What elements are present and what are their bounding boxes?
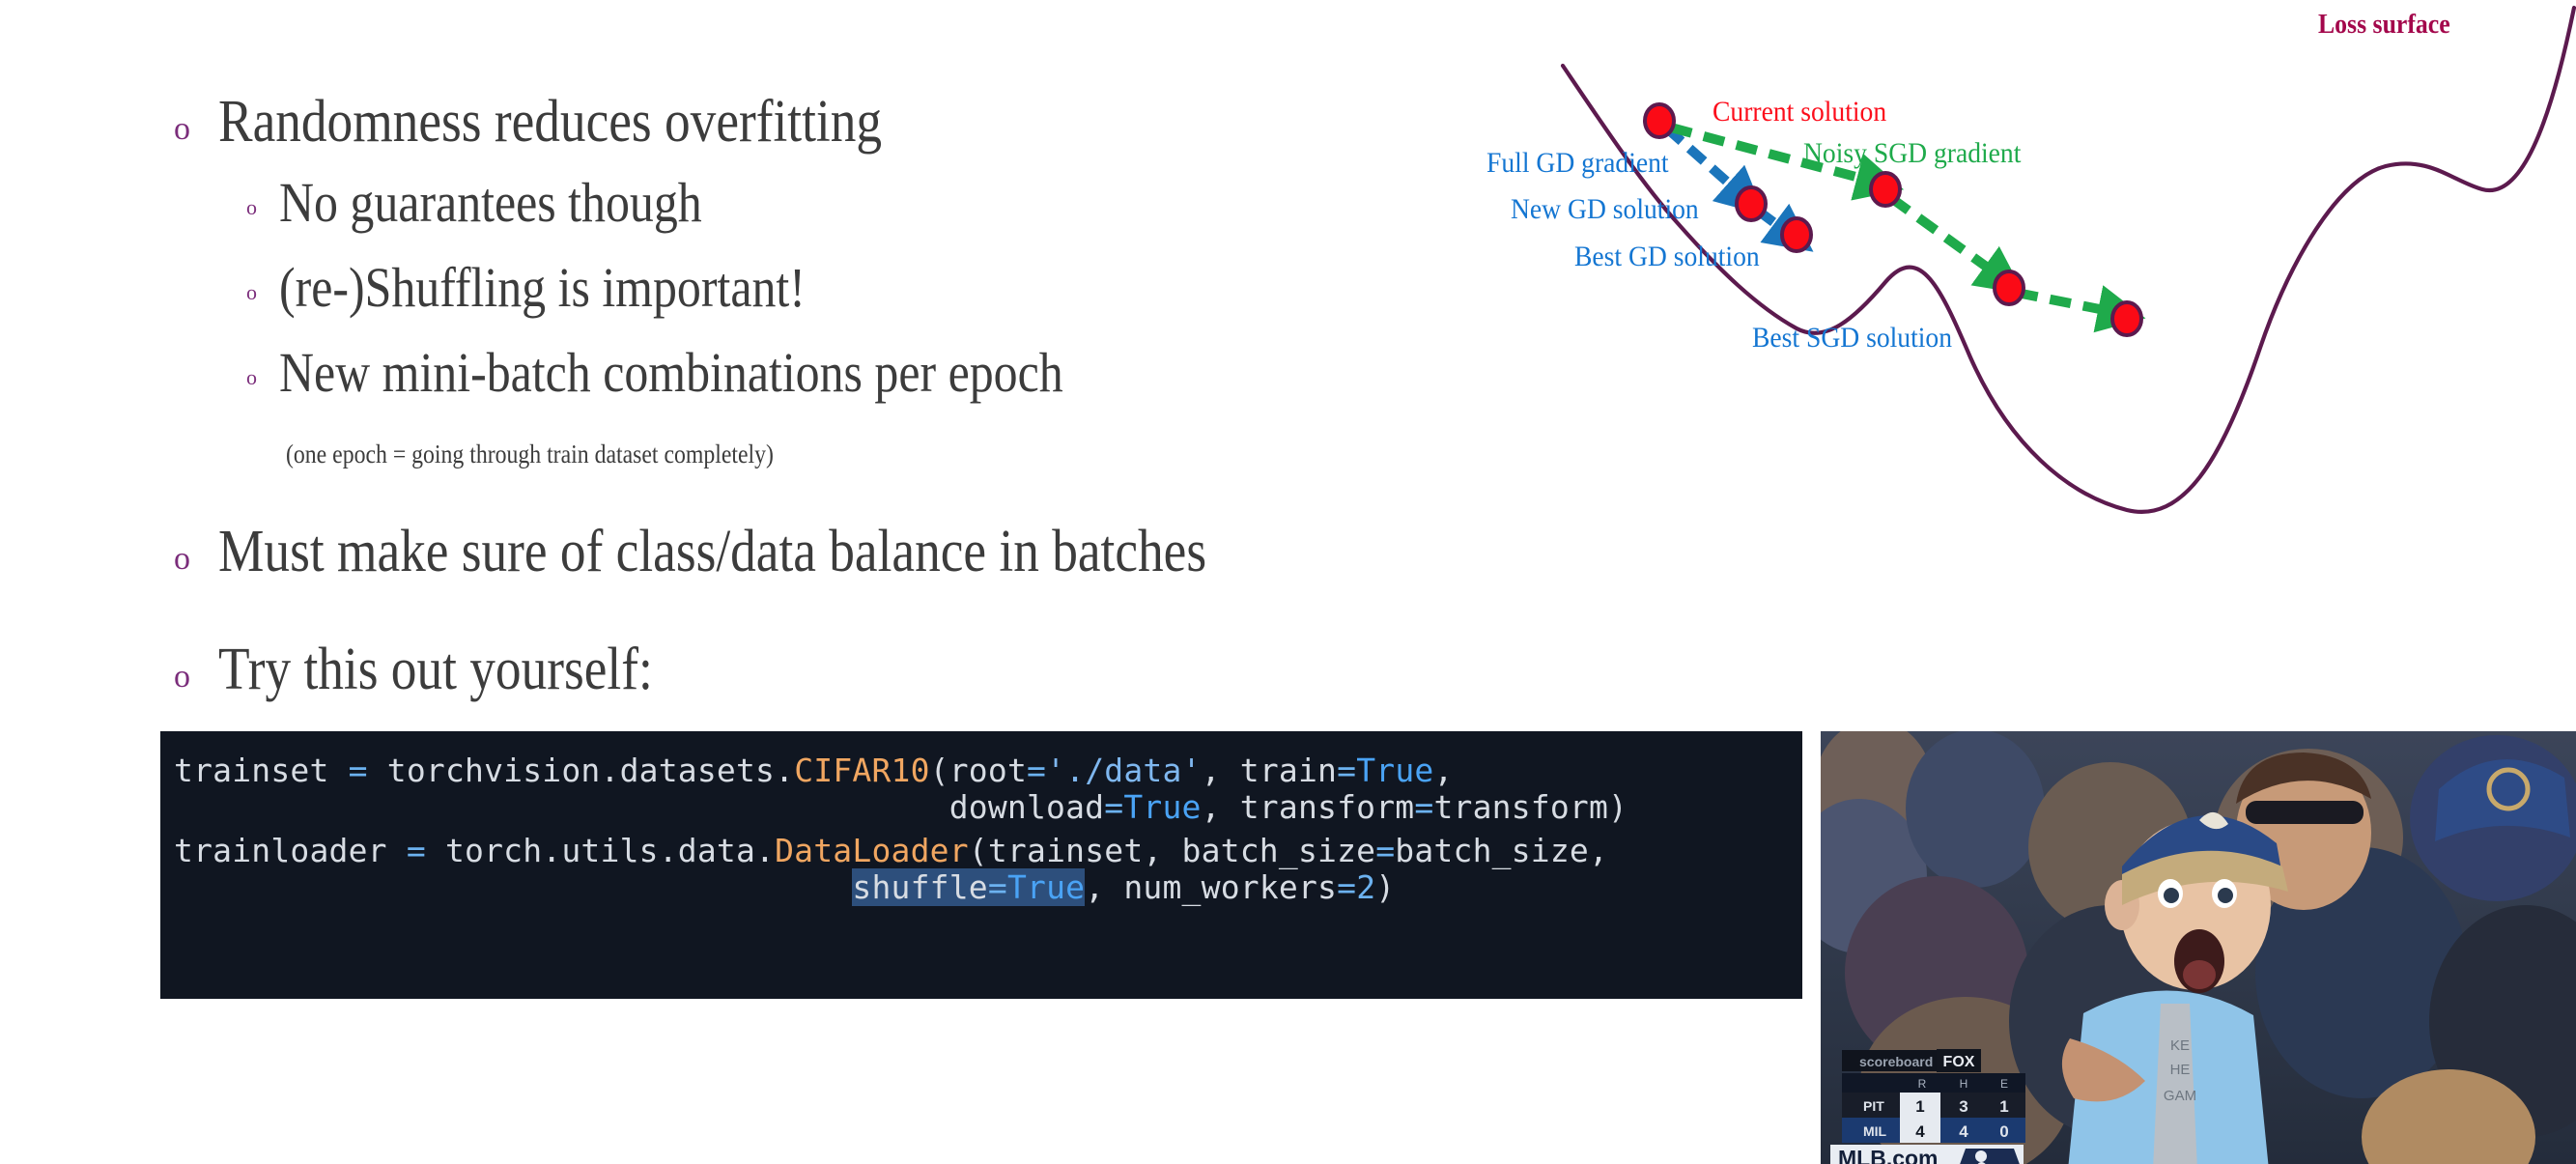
small-circle-outline-bullet-icon: o bbox=[246, 282, 279, 303]
svg-text:FOX: FOX bbox=[1943, 1054, 1975, 1070]
svg-text:PIT: PIT bbox=[1863, 1098, 1884, 1114]
code-token: True bbox=[1356, 752, 1433, 789]
bullet-item-randomness: o Randomness reduces overfitting bbox=[174, 92, 990, 153]
marker-sgd-step-2 bbox=[1995, 271, 2024, 304]
code-token: = bbox=[1337, 868, 1356, 906]
label-new-gd-solution: New GD solution bbox=[1511, 193, 1699, 226]
slide-canvas: o Randomness reduces overfitting o No gu… bbox=[0, 0, 2576, 1164]
label-best-gd-solution: Best GD solution bbox=[1574, 241, 1760, 273]
bullet-item-class-balance: o Must make sure of class/data balance i… bbox=[174, 522, 1368, 582]
circle-outline-bullet-icon: o bbox=[174, 543, 218, 576]
code-line: download=True, transform=transform) bbox=[160, 789, 1802, 826]
svg-text:GAM: GAM bbox=[2164, 1088, 2196, 1104]
svg-text:KE: KE bbox=[2170, 1037, 2190, 1054]
svg-text:1: 1 bbox=[1915, 1097, 1924, 1116]
marker-best-gd-solution bbox=[1782, 218, 1811, 251]
bullet-text: New mini-batch combinations per epoch bbox=[279, 344, 1063, 401]
code-line: shuffle=True, num_workers=2) bbox=[160, 869, 1802, 906]
bullet-text: Must make sure of class/data balance in … bbox=[218, 522, 1206, 582]
code-token: torch.utils.data. bbox=[426, 832, 775, 869]
marker-sgd-step-1 bbox=[1871, 173, 1900, 206]
code-token: True bbox=[1123, 788, 1201, 826]
bullet-text: No guarantees though bbox=[279, 174, 702, 231]
code-snippet-block: trainset = torchvision.datasets.CIFAR10(… bbox=[160, 731, 1802, 999]
svg-text:MLB.com: MLB.com bbox=[1838, 1146, 1939, 1164]
code-token: = bbox=[407, 832, 426, 869]
svg-text:4: 4 bbox=[1915, 1122, 1925, 1141]
code-token-highlighted: shuffle bbox=[852, 868, 987, 906]
code-token: CIFAR10 bbox=[794, 752, 929, 789]
label-current-solution: Current solution bbox=[1713, 96, 1886, 128]
svg-text:3: 3 bbox=[1959, 1097, 1967, 1116]
loss-surface-diagram: Loss surface Current solution Noisy SGD … bbox=[1487, 0, 2576, 599]
small-circle-outline-bullet-icon: o bbox=[246, 367, 279, 388]
code-token: (trainset, batch_size bbox=[969, 832, 1375, 869]
small-circle-outline-bullet-icon: o bbox=[246, 197, 279, 218]
code-token: = bbox=[1104, 788, 1123, 826]
code-token: , bbox=[1433, 752, 1453, 789]
circle-outline-bullet-icon: o bbox=[174, 661, 218, 694]
code-token: = bbox=[349, 752, 368, 789]
bullet-list: o Randomness reduces overfitting o No gu… bbox=[0, 0, 1507, 715]
code-token-highlighted: True bbox=[1007, 868, 1085, 906]
svg-text:HE: HE bbox=[2170, 1062, 2191, 1078]
bullet-item-minibatch: o New mini-batch combinations per epoch bbox=[246, 344, 1191, 401]
bullet-item-shuffling: o (re-)Shuffling is important! bbox=[246, 259, 892, 316]
code-token: = bbox=[1375, 832, 1395, 869]
code-token: trainset bbox=[174, 752, 349, 789]
code-token: trainloader bbox=[174, 832, 407, 869]
svg-text:1: 1 bbox=[1999, 1097, 2008, 1116]
svg-text:R: R bbox=[1918, 1077, 1927, 1091]
svg-text:scoreboard: scoreboard bbox=[1859, 1054, 1933, 1069]
label-full-gd-gradient: Full GD gradient bbox=[1486, 147, 1669, 180]
code-token: = bbox=[1414, 788, 1433, 826]
circle-outline-bullet-icon: o bbox=[174, 113, 218, 146]
marker-best-sgd-solution bbox=[2112, 302, 2141, 335]
svg-text:H: H bbox=[1960, 1077, 1968, 1091]
code-token: './data' bbox=[1046, 752, 1202, 789]
code-token: = bbox=[1337, 752, 1356, 789]
svg-text:0: 0 bbox=[1999, 1122, 2008, 1141]
sgd-step-3-arrow bbox=[2017, 293, 2119, 313]
code-token bbox=[174, 868, 852, 906]
code-token: , transform bbox=[1202, 788, 1415, 826]
code-token: , num_workers bbox=[1085, 868, 1337, 906]
surprised-baby-baseball-crowd-photo: KE HE GAM bbox=[1821, 731, 2576, 1164]
code-token: download bbox=[174, 788, 1104, 826]
code-token: ) bbox=[1375, 868, 1395, 906]
code-token-highlighted: = bbox=[988, 868, 1007, 906]
svg-text:4: 4 bbox=[1959, 1122, 1968, 1141]
code-token: batch_size, bbox=[1395, 832, 1608, 869]
code-token: torchvision.datasets. bbox=[368, 752, 795, 789]
label-noisy-sgd-gradient: Noisy SGD gradient bbox=[1803, 137, 2021, 170]
bullet-item-try-this: o Try this out yourself: bbox=[174, 639, 723, 700]
code-token: = bbox=[1027, 752, 1046, 789]
bullet-text: Try this out yourself: bbox=[218, 639, 653, 700]
marker-new-gd-solution bbox=[1737, 187, 1766, 220]
svg-text:E: E bbox=[2000, 1077, 2008, 1091]
code-token: (root bbox=[930, 752, 1027, 789]
bullet-item-no-guarantees: o No guarantees though bbox=[246, 174, 771, 231]
code-token: , train bbox=[1202, 752, 1337, 789]
bullet-text: (re-)Shuffling is important! bbox=[279, 259, 806, 316]
code-token: DataLoader bbox=[775, 832, 969, 869]
label-loss-surface: Loss surface bbox=[2318, 10, 2450, 41]
code-line: trainloader = torch.utils.data.DataLoade… bbox=[160, 833, 1802, 869]
marker-current-solution bbox=[1645, 104, 1674, 137]
label-best-sgd-solution: Best SGD solution bbox=[1752, 322, 1952, 355]
bullet-text: Randomness reduces overfitting bbox=[218, 92, 882, 153]
code-line: trainset = torchvision.datasets.CIFAR10(… bbox=[160, 752, 1802, 789]
code-token: transform) bbox=[1433, 788, 1628, 826]
code-token: 2 bbox=[1356, 868, 1375, 906]
svg-text:MIL: MIL bbox=[1863, 1123, 1887, 1139]
epoch-subnote: (one epoch = going through train dataset… bbox=[286, 440, 774, 469]
